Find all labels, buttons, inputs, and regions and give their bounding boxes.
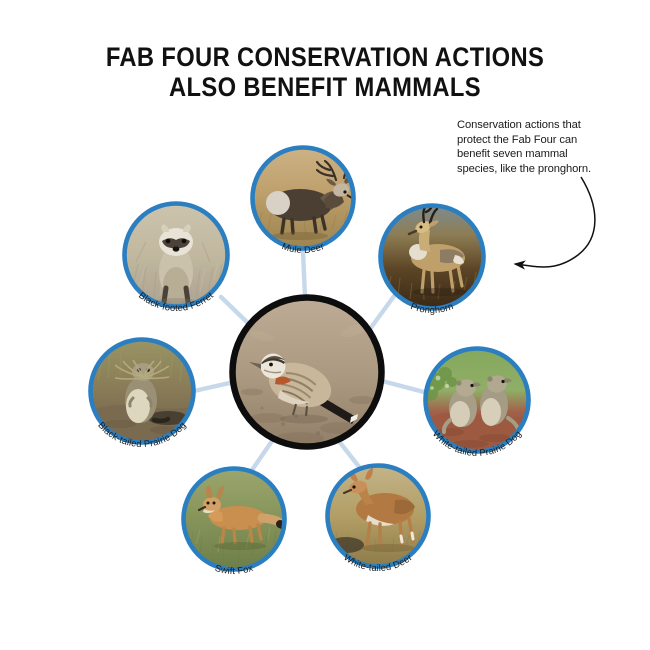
connector-black-footed-ferret — [221, 297, 251, 326]
node-mule-deer[interactable]: Mule Deer — [253, 148, 364, 256]
node-black-footed-ferret[interactable]: Black-footed Ferret — [125, 204, 228, 314]
connector-pronghorn — [370, 292, 397, 329]
diagram-canvas: Mule Deer — [0, 0, 650, 650]
connector-white-tailed-deer — [338, 440, 360, 468]
node-white-tailed-prairie-dog[interactable]: White-tailed Prairie Dog — [422, 349, 529, 459]
node-black-tailed-prairie-dog[interactable]: Black-tailed Prairie Dog — [91, 340, 194, 450]
annotation-arrow — [515, 177, 595, 267]
center-node-fab-four-bird[interactable] — [233, 298, 382, 447]
node-white-tailed-deer[interactable]: White-tailed Deer — [328, 466, 429, 574]
node-swift-fox[interactable]: Swift Fox — [184, 469, 288, 576]
connector-black-tailed-prairie-dog — [194, 382, 234, 391]
connector-mule-deer — [303, 252, 305, 296]
connector-swift-fox — [252, 441, 272, 470]
connector-white-tailed-prairie-dog — [382, 381, 424, 392]
node-pronghorn[interactable]: Pronghorn — [381, 205, 484, 315]
